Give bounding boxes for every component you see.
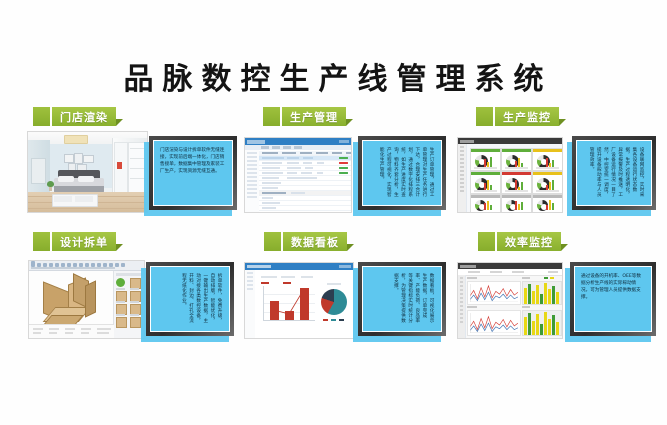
card-blue-panel: 通过设备的开机率、OEE等数据分析生产线的实际稼动情况，可为管理人员提供数据支撑…: [575, 267, 651, 331]
interior-render-image: [28, 132, 147, 212]
chart-title: [522, 277, 530, 279]
banner-plate: 门店渲染: [52, 107, 116, 126]
chart-title: [467, 306, 477, 308]
banner-tail-icon: [561, 244, 568, 251]
trend-line: [265, 286, 315, 320]
mini-bars: [546, 200, 558, 210]
cad-properties-bar[interactable]: [29, 324, 114, 338]
card-blue-panel: 生产订单管理，通过工单管理对生产任务进行下达，合理安排三合计划，通过数字化排程系…: [363, 141, 441, 205]
sidebar-tree[interactable]: [245, 150, 260, 212]
gauge-card[interactable]: [470, 194, 501, 213]
status-bar: [533, 195, 562, 198]
filter-label: [301, 276, 313, 278]
section-banner-data-dashboard: 数据看板: [264, 232, 354, 251]
description-card-production-management: 生产订单管理，通过工单管理对生产任务进行下达，合理安排三合计划，通过数字化排程系…: [358, 136, 446, 210]
section-banner-production-management: 生产管理: [263, 107, 353, 126]
sidebar-rail[interactable]: [458, 144, 467, 212]
card-blue-panel: 门店渲染与设计拆单软件无缝连接，实现前后端一体化，门店销售接单，数据集中管理及家…: [154, 141, 232, 205]
gauge-card[interactable]: [501, 148, 532, 171]
section-label: 设计拆单: [60, 234, 108, 250]
banner-tail-icon: [116, 119, 123, 126]
gauge-label: [505, 190, 528, 192]
filter-label: [261, 276, 277, 278]
stacked-bar-chart-a[interactable]: [522, 281, 562, 305]
mini-bars: [546, 155, 558, 168]
gauge-label: [474, 190, 497, 192]
screenshot-efficiency-monitoring[interactable]: [457, 262, 563, 339]
banner-tail-icon: [116, 244, 123, 251]
x-axis: [263, 320, 315, 321]
description-text: 门店渲染与设计拆单软件无缝连接，实现前后端一体化，门店销售接单，数据集中管理及家…: [160, 147, 226, 199]
section-label: 数据看板: [291, 234, 339, 250]
cad-software-ui: [29, 261, 144, 338]
production-table-ui: [245, 138, 351, 212]
table-row[interactable]: [259, 206, 351, 211]
dashboard-body: [255, 270, 353, 338]
orders-table[interactable]: [259, 150, 351, 212]
legend-swatch: [339, 319, 344, 321]
app-titlebar: [458, 138, 562, 144]
description-text: 设备联网监控，实时采集各设备运行状态数据，生产过程透明化，异常报警及时推送，工厂…: [583, 147, 645, 199]
line-series: [470, 284, 518, 302]
banner-tail-icon: [559, 119, 566, 126]
cad-toolbar[interactable]: [29, 261, 144, 271]
screenshot-production-management[interactable]: [244, 137, 352, 213]
chart-title: [467, 277, 477, 279]
gauge-card[interactable]: [532, 194, 563, 213]
gauge-card[interactable]: [501, 171, 532, 194]
card-inner: 设备联网监控，实时采集各设备运行状态数据，生产过程透明化，异常报警及时推送，工厂…: [576, 140, 652, 206]
app-titlebar: [245, 138, 351, 145]
legend-swatch: [283, 282, 291, 284]
section-banner-design-split-order: 设计拆单: [33, 232, 123, 251]
legend-swatch: [544, 277, 548, 279]
stacked-bar-chart-b[interactable]: [522, 310, 562, 336]
efficiency-dashboard-ui: [458, 263, 562, 338]
banner-tail-icon: [346, 119, 353, 126]
status-bar: [502, 149, 531, 152]
section-label: 生产监控: [503, 109, 551, 125]
card-inner: 数据看板，可视化展示生产数据，订单完成率、产能负荷、良品率等关键指标实时统计分析…: [362, 266, 442, 332]
pie-chart: [321, 289, 347, 315]
status-bar: [502, 195, 531, 198]
legend-swatch: [323, 319, 328, 321]
status-bar: [533, 172, 562, 175]
app-titlebar: [245, 263, 353, 270]
description-text: 拆单软件，免费升级，自动排版，智能优化，一键输出生产数据，主动对接各类数控设备，…: [157, 273, 223, 325]
description-card-store-rendering: 门店渲染与设计拆单软件无缝连接，实现前后端一体化，门店销售接单，数据集中管理及家…: [149, 136, 237, 210]
mini-bars: [546, 178, 558, 191]
line-chart-a[interactable]: [467, 281, 521, 305]
description-card-design-split-order: 拆单软件，免费升级，自动排版，智能优化，一键输出生产数据，主动对接各类数控设备，…: [146, 262, 234, 336]
status-bar: [471, 172, 500, 175]
description-card-production-monitoring: 设备联网监控，实时采集各设备运行状态数据，生产过程透明化，异常报警及时推送，工厂…: [572, 136, 656, 210]
card-inner: 生产订单管理，通过工单管理对生产任务进行下达，合理安排三合计划，通过数字化排程系…: [362, 140, 442, 206]
banner-stub: [263, 107, 280, 126]
gauge-card[interactable]: [470, 148, 501, 171]
card-blue-panel: 设备联网监控，实时采集各设备运行状态数据，生产过程透明化，异常报警及时推送，工厂…: [577, 141, 651, 205]
banner-stub: [264, 232, 281, 251]
card-inner: 门店渲染与设计拆单软件无缝连接，实现前后端一体化，门店销售接单，数据集中管理及家…: [153, 140, 233, 206]
banner-stub: [476, 107, 493, 126]
legend-swatch: [261, 282, 269, 284]
card-blue-panel: 数据看板，可视化展示生产数据，订单完成率、产能负荷、良品率等关键指标实时统计分析…: [363, 267, 441, 331]
banner-stub: [33, 107, 50, 126]
description-text: 通过设备的开机率、OEE等数据分析生产线的实际稼动情况，可为管理人员提供数据支撑…: [581, 273, 645, 325]
cad-viewport[interactable]: [29, 271, 114, 324]
line-chart-b[interactable]: [467, 310, 521, 336]
filter-label: [281, 276, 295, 278]
gauge-label: [536, 167, 559, 169]
infographic-page: 品脉数控生产线管理系统 门店渲染: [0, 0, 667, 425]
banner-tail-icon: [347, 244, 354, 251]
section-label: 门店渲染: [60, 109, 108, 125]
mini-bars: [484, 155, 496, 168]
pie-title: [327, 283, 341, 285]
banner-stub: [33, 232, 50, 251]
mini-bars: [515, 178, 527, 191]
screenshot-design-split-order[interactable]: [28, 260, 145, 339]
banner-plate: 数据看板: [283, 232, 347, 251]
page-title: 品脉数控生产线管理系统: [0, 54, 667, 98]
status-bar: [533, 149, 562, 152]
mini-bars: [515, 155, 527, 168]
section-label: 效率监控: [505, 234, 553, 250]
gauge-card[interactable]: [532, 148, 563, 171]
section-banner-efficiency-monitoring: 效率监控: [478, 232, 568, 251]
description-text: 数据看板，可视化展示生产数据，订单完成率、产能负荷、良品率等关键指标实时统计分析…: [369, 273, 435, 325]
banner-plate: 设计拆单: [52, 232, 116, 251]
banner-stub: [478, 232, 495, 251]
section-banner-production-monitoring: 生产监控: [476, 107, 566, 126]
banner-plate: 效率监控: [497, 232, 561, 251]
description-card-data-dashboard: 数据看板，可视化展示生产数据，订单完成率、产能负荷、良品率等关键指标实时统计分析…: [358, 262, 446, 336]
gauge-label: [536, 190, 559, 192]
gauge-card[interactable]: [470, 171, 501, 194]
banner-plate: 生产监控: [495, 107, 559, 126]
legend-swatch: [331, 319, 336, 321]
description-text: 生产订单管理，通过工单管理对生产任务进行下达，合理安排三合计划，通过数字化排程系…: [369, 147, 435, 199]
filter-toolbar[interactable]: [458, 269, 562, 276]
description-card-efficiency-monitoring: 通过设备的开机率、OEE等数据分析生产线的实际稼动情况，可为管理人员提供数据支撑…: [570, 262, 656, 336]
part-thumb-highlight[interactable]: [116, 278, 125, 287]
screenshot-production-monitoring[interactable]: [457, 137, 563, 213]
line-series: [470, 313, 518, 333]
gauge-dashboard-ui: [458, 138, 562, 212]
chart-title: [522, 306, 530, 308]
sidebar-rail[interactable]: [458, 275, 466, 338]
gauge-label: [505, 167, 528, 169]
card-blue-panel: 拆单软件，免费升级，自动排版，智能优化，一键输出生产数据，主动对接各类数控设备，…: [151, 267, 229, 331]
mini-bars: [515, 200, 527, 210]
gauge-card[interactable]: [501, 194, 532, 213]
card-inner: 拆单软件，免费升级，自动排版，智能优化，一键输出生产数据，主动对接各类数控设备，…: [150, 266, 230, 332]
section-label: 生产管理: [290, 109, 338, 125]
status-bar: [502, 172, 531, 175]
mini-bars: [484, 178, 496, 191]
status-bar: [471, 149, 500, 152]
status-bar: [471, 195, 500, 198]
card-inner: 通过设备的开机率、OEE等数据分析生产线的实际稼动情况，可为管理人员提供数据支撑…: [574, 266, 652, 332]
screenshot-store-rendering[interactable]: [27, 131, 148, 213]
gauge-card[interactable]: [532, 171, 563, 194]
mini-bars: [484, 200, 496, 210]
legend-swatch: [550, 277, 554, 279]
section-banner-store-rendering: 门店渲染: [33, 107, 123, 126]
banner-plate: 生产管理: [282, 107, 346, 126]
cad-parts-panel[interactable]: [113, 271, 144, 338]
screenshot-data-dashboard[interactable]: [244, 262, 354, 339]
chart-dashboard-ui: [245, 263, 353, 338]
gauge-label: [474, 167, 497, 169]
